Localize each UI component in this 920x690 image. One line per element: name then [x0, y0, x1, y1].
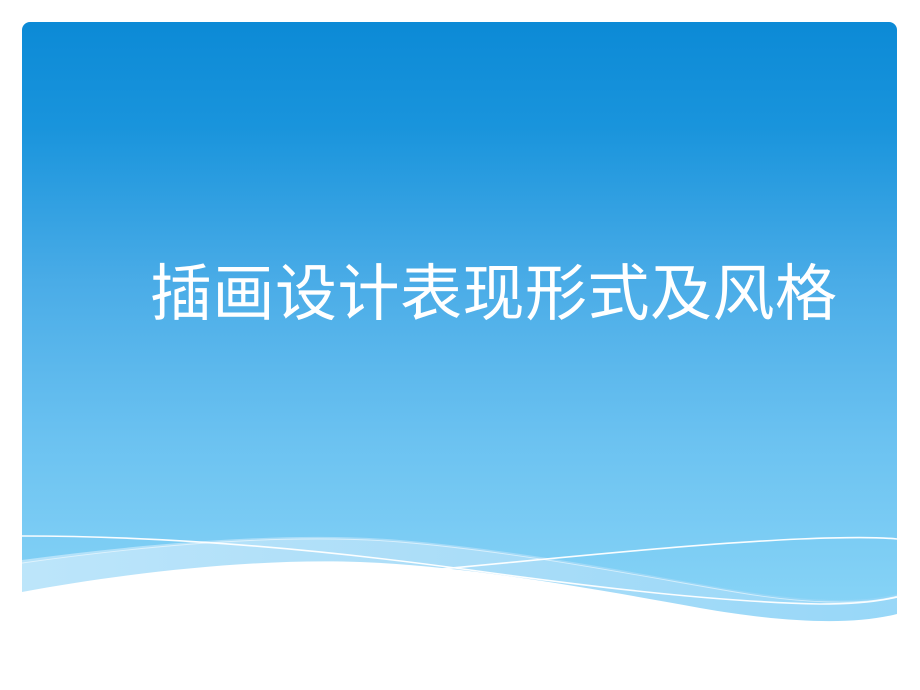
title-placeholder[interactable]: 插画设计表现形式及风格: [150, 258, 790, 329]
slide-background-graphic: [0, 0, 920, 690]
page-title[interactable]: 插画设计表现形式及风格: [150, 258, 790, 329]
slide-surface[interactable]: 插画设计表现形式及风格: [0, 0, 920, 690]
slide-canvas: 插画设计表现形式及风格: [0, 0, 920, 690]
